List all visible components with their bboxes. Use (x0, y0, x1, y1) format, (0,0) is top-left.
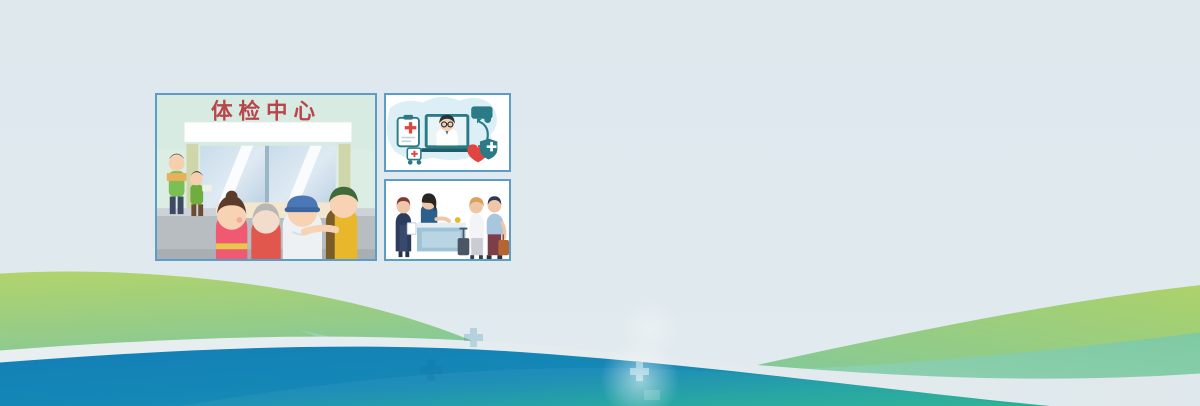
signboard-blank-strip (184, 122, 351, 142)
telemedicine-artwork (386, 95, 509, 170)
laptop-with-doctor (421, 114, 473, 152)
online-doctor-consultation-illustration[interactable] (384, 93, 511, 172)
suitcase-brown (498, 240, 509, 255)
reception-desk-artwork (386, 181, 509, 259)
health-check-gallery: 体检中心 (155, 93, 511, 263)
person-elder-grey (251, 203, 280, 259)
health-examination-center-photo[interactable]: 体检中心 (155, 93, 377, 261)
clipboard-icon (398, 115, 419, 146)
health-check-banner: 体检中心 (0, 0, 1200, 406)
square-decor (644, 390, 660, 400)
signboard-title: 体检中心 (211, 98, 321, 124)
health-examination-center-artwork: 体检中心 (157, 95, 375, 259)
suitcase-grey (458, 238, 470, 255)
reception-desk-illustration[interactable] (384, 179, 511, 261)
